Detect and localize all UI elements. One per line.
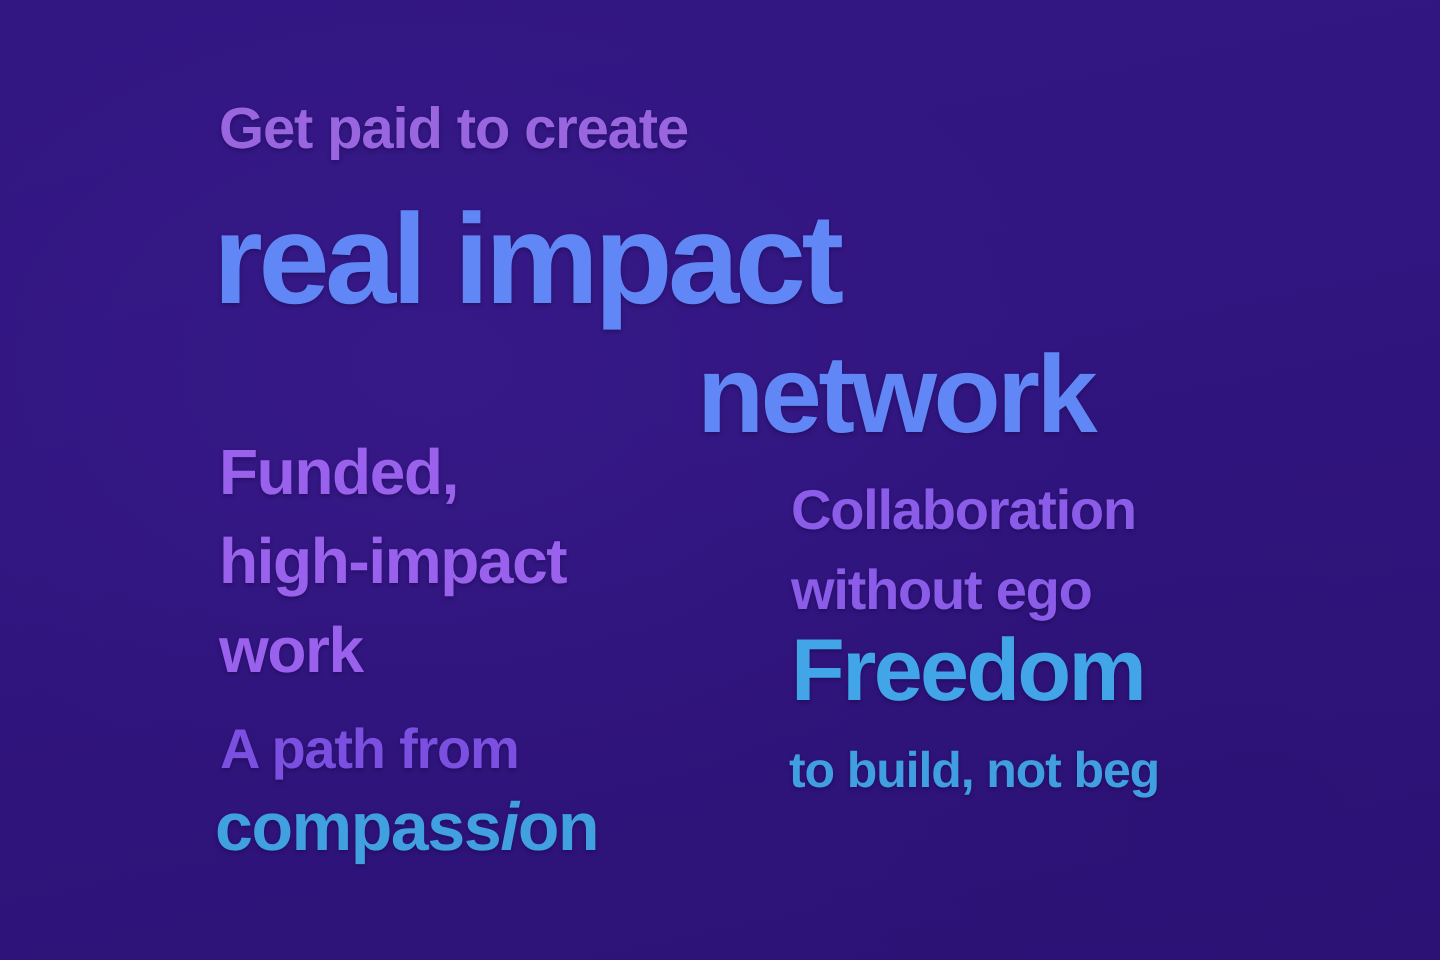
word-funded-line-2: high-impact — [219, 517, 566, 606]
word-real-impact: real impact — [213, 196, 840, 324]
word-compassion-segment-1: compass — [215, 789, 500, 865]
word-funded-high-impact-work: Funded, high-impact work — [219, 428, 566, 695]
word-collaboration-line-1: Collaboration — [791, 470, 1136, 550]
word-collaboration-line-2: without ego — [791, 550, 1136, 630]
word-funded-line-3: work — [219, 606, 566, 695]
word-network: network — [697, 340, 1094, 450]
word-to-build-not-beg: to build, not beg — [789, 745, 1159, 795]
word-compassion: compassion — [215, 793, 598, 861]
word-compassion-segment-2: on — [518, 789, 598, 865]
word-compassion-italic-i: i — [500, 789, 518, 865]
word-freedom: Freedom — [791, 626, 1144, 714]
word-collaboration-without-ego: Collaboration without ego — [791, 470, 1136, 630]
word-funded-line-1: Funded, — [219, 428, 566, 517]
word-get-paid-to-create: Get paid to create — [219, 100, 688, 158]
word-a-path-from: A path from — [220, 721, 519, 777]
wordcloud-canvas: Get paid to create real impact network F… — [0, 0, 1440, 960]
